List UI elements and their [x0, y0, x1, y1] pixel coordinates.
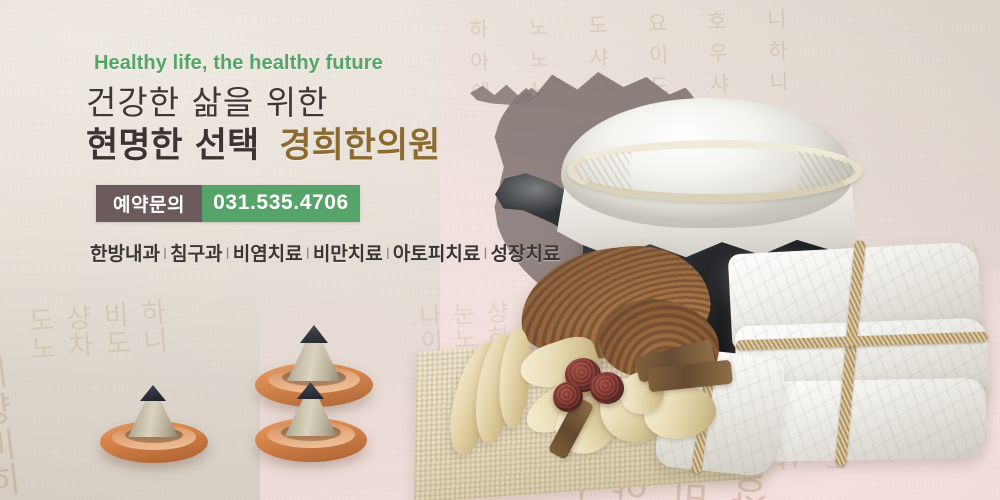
department-separator-0: l — [160, 245, 170, 263]
department-separator-2: l — [303, 245, 313, 263]
department-item-0[interactable]: 한방내과 — [90, 239, 160, 266]
department-item-5[interactable]: 성장치료 — [490, 239, 560, 266]
banner-copy-block: Healthy life, the healthy future 건강한 삶을 … — [86, 52, 556, 266]
department-list: 한방내과 l 침구과 l 비염치료 l 비만치료 l 아토피치료 l 성장치료 — [90, 239, 556, 266]
department-separator-4: l — [480, 245, 490, 263]
headline-line-2-main: 현명한 선택 — [86, 126, 259, 166]
phone-number[interactable]: 031.535.4706 — [202, 185, 360, 222]
department-item-2[interactable]: 비염치료 — [233, 239, 303, 266]
headline-line-2: 현명한 선택 경희한의원 — [86, 125, 556, 167]
clinic-brand-name: 경희한의원 — [279, 126, 440, 166]
reservation-contact-bar[interactable]: 예약문의 031.535.4706 — [96, 185, 360, 222]
hanbang-clinic-banner: 다 놓 테 샹 비 히 놀 도 샹 비 도 샹 비 하 노 차 도 니 하 노 … — [0, 0, 1000, 500]
department-separator-1: l — [223, 245, 233, 263]
headline-line-1: 건강한 삶을 위한 — [86, 83, 556, 123]
tagline: Healthy life, the healthy future — [94, 52, 556, 75]
department-item-3[interactable]: 비만치료 — [313, 239, 383, 266]
department-separator-3: l — [383, 245, 393, 263]
department-item-1[interactable]: 침구과 — [170, 239, 222, 266]
reservation-label: 예약문의 — [96, 185, 202, 222]
department-item-4[interactable]: 아토피치료 — [393, 239, 480, 266]
